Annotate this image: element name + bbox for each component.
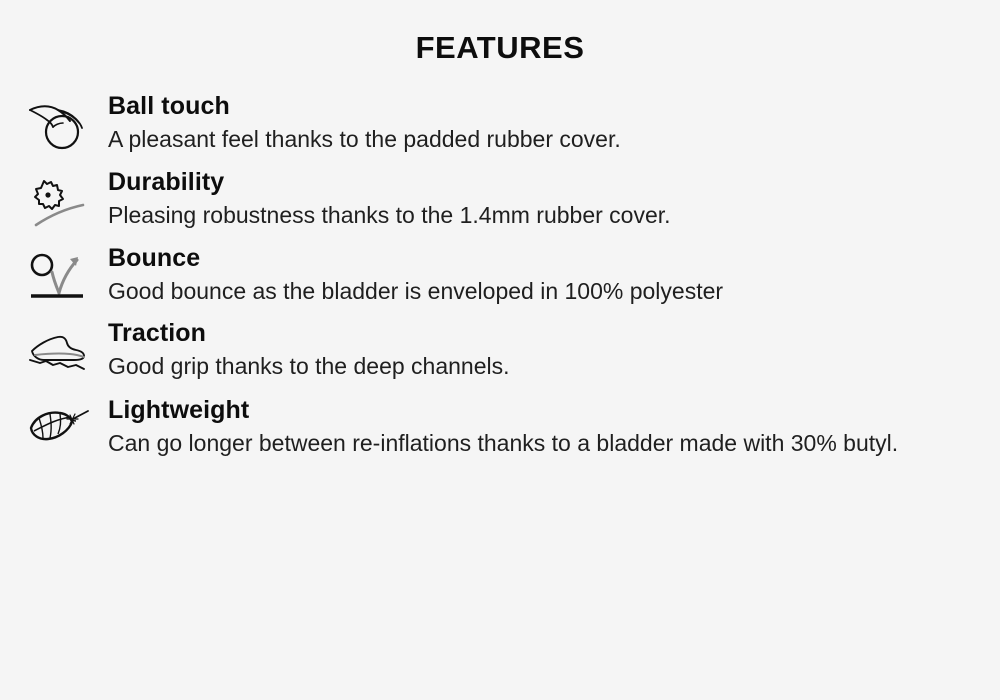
feature-description: Pleasing robustness thanks to the 1.4mm … [108,201,948,230]
feature-description: A pleasant feel thanks to the padded rub… [108,125,948,154]
page-title: FEATURES [0,0,1000,65]
features-list: Ball touch A pleasant feel thanks to the… [0,92,1000,458]
hand-ball-touch-icon [26,92,108,154]
feature-description: Good bounce as the bladder is enveloped … [108,277,948,306]
feature-item-bounce: Bounce Good bounce as the bladder is env… [0,244,1000,306]
feature-heading: Ball touch [108,92,1000,122]
feature-item-durability: Durability Pleasing robustness thanks to… [0,168,1000,230]
bounce-arrow-icon [26,244,108,306]
feature-heading: Traction [108,319,1000,349]
feature-heading: Bounce [108,244,1000,274]
feature-text-lightweight: Lightweight Can go longer between re-inf… [108,396,1000,458]
feature-text-ball-touch: Ball touch A pleasant feel thanks to the… [108,92,1000,154]
feature-text-durability: Durability Pleasing robustness thanks to… [108,168,1000,230]
feature-description: Can go longer between re-inflations than… [108,429,948,458]
features-page: FEATURES Ball touch A pleasant feel than… [0,0,1000,700]
feather-icon [26,396,108,458]
shoe-traction-icon [26,319,108,381]
feature-item-traction: Traction Good grip thanks to the deep ch… [0,319,1000,381]
feature-text-bounce: Bounce Good bounce as the bladder is env… [108,244,1000,306]
feature-description: Good grip thanks to the deep channels. [108,352,948,381]
feature-text-traction: Traction Good grip thanks to the deep ch… [108,319,1000,381]
feature-item-lightweight: Lightweight Can go longer between re-inf… [0,396,1000,458]
feature-item-ball-touch: Ball touch A pleasant feel thanks to the… [0,92,1000,154]
feature-heading: Lightweight [108,396,1000,426]
feature-heading: Durability [108,168,1000,198]
abrasion-gear-icon [26,168,108,230]
